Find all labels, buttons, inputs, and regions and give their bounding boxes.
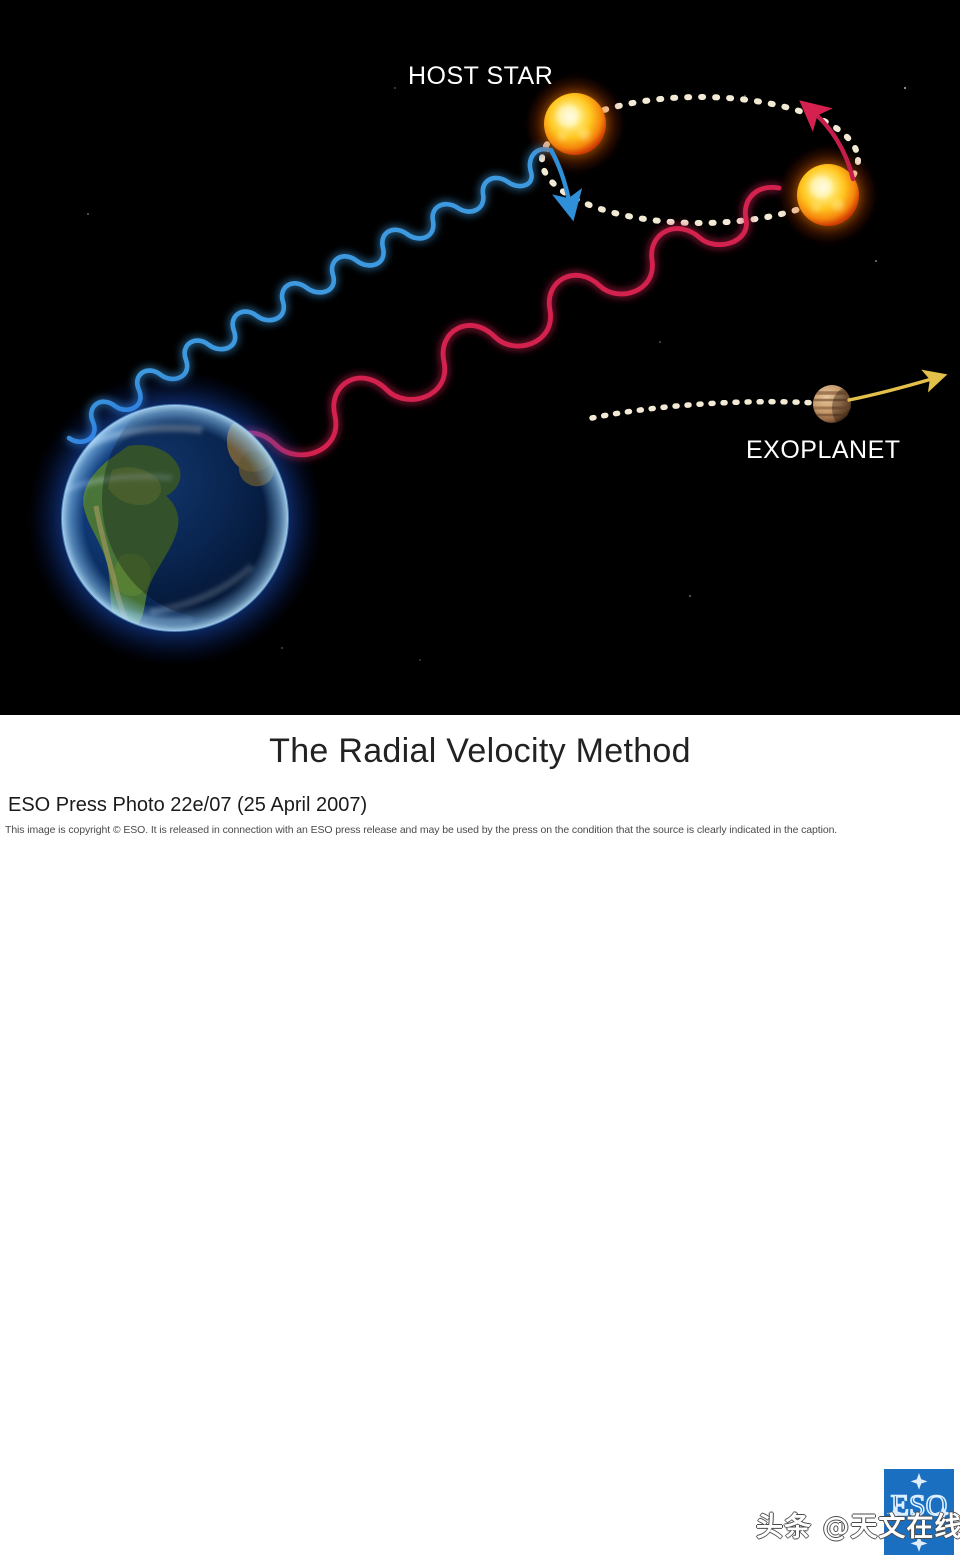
exoplanet-label: EXOPLANET xyxy=(746,436,901,465)
earth-globe xyxy=(27,370,323,666)
eso-logo-mark: ESO xyxy=(884,1469,954,1555)
diagram-canvas xyxy=(0,0,960,715)
figure-title: The Radial Velocity Method xyxy=(0,732,960,771)
press-photo-reference: ESO Press Photo 22e/07 (25 April 2007) xyxy=(8,794,367,817)
eso-logo: ESO xyxy=(884,1469,954,1555)
host-star-label: HOST STAR xyxy=(408,62,553,91)
space-diagram-panel: HOST STAR EXOPLANET xyxy=(0,0,960,715)
host-star-far-position xyxy=(778,145,878,245)
caption-band: The Radial Velocity Method ESO Press Pho… xyxy=(0,715,960,846)
radial-velocity-figure: HOST STAR EXOPLANET The Radial Velocity … xyxy=(0,0,960,846)
copyright-notice: This image is copyright © ESO. It is rel… xyxy=(5,824,837,836)
eso-logo-text: ESO xyxy=(891,1489,948,1522)
